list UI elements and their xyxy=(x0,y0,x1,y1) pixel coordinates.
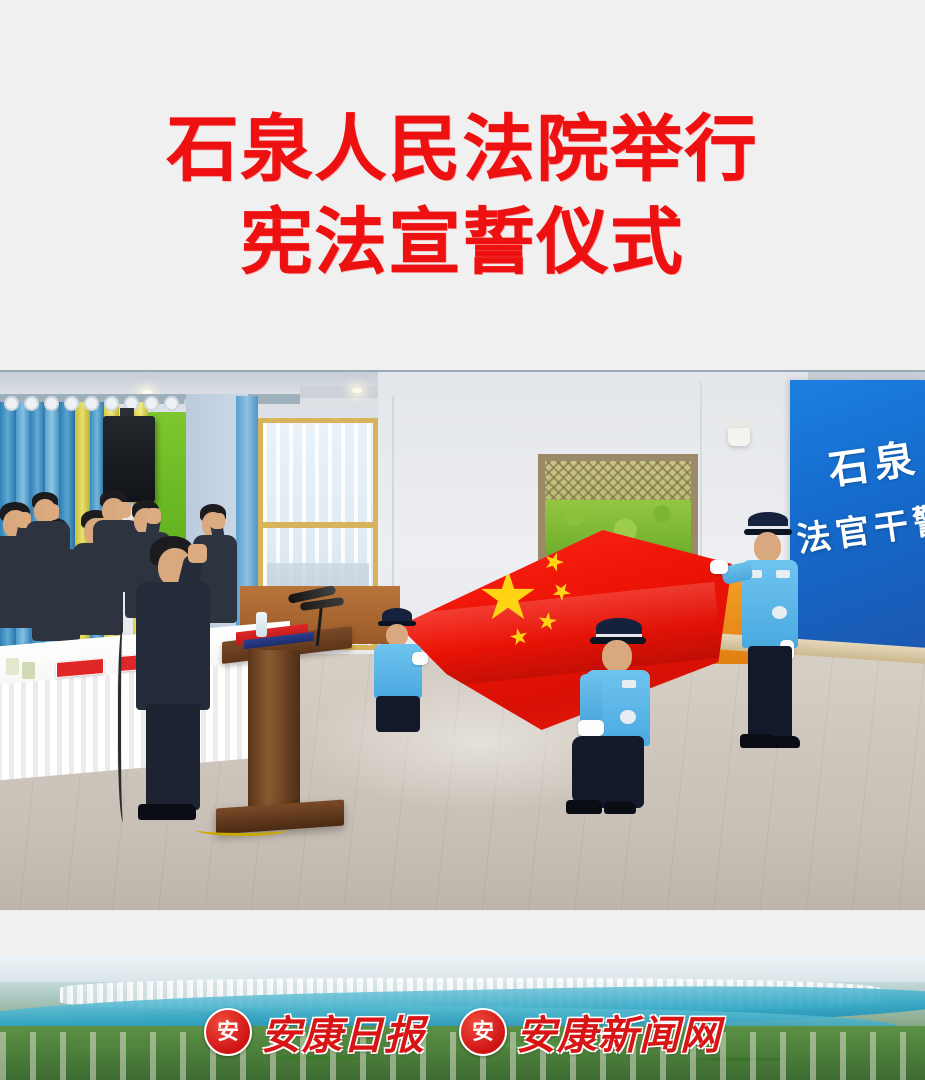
window-mullion xyxy=(258,522,378,528)
microphone-cable xyxy=(118,622,131,822)
logo-ankang-daily[interactable]: 安 安康日报 xyxy=(204,1003,425,1061)
logo-ankang-daily-text: 安康日报 xyxy=(261,1003,425,1061)
headline-line-1: 石泉人民法院举行 xyxy=(0,108,925,193)
ceremony-photo: 石泉 法官干警 xyxy=(0,370,925,912)
emblem-mark: 安 xyxy=(472,1021,494,1043)
banner-line-1: 石泉 xyxy=(824,426,923,496)
photo-footer-gap xyxy=(0,910,925,956)
water-bottle xyxy=(256,612,267,637)
ankang-daily-emblem-icon: 安 xyxy=(204,1008,252,1056)
tea-cup xyxy=(6,658,19,675)
ankang-news-emblem-icon: 安 xyxy=(459,1008,507,1056)
podium-column xyxy=(248,650,300,816)
wall-lamp-icon xyxy=(728,428,750,446)
ceiling-light-icon xyxy=(352,388,362,393)
poster-page: 石泉人民法院举行 宪法宣誓仪式 xyxy=(0,0,925,1080)
headline-line-2: 宪法宣誓仪式 xyxy=(0,201,925,286)
footer-logos: 安 安康日报 安 安康新闻网 xyxy=(0,996,925,1068)
floor-cable xyxy=(196,824,288,836)
page-title: 石泉人民法院举行 宪法宣誓仪式 xyxy=(0,108,925,286)
banner-line-2: 法官干警 xyxy=(793,491,925,561)
tea-cup xyxy=(22,662,35,679)
logo-ankang-news-text: 安康新闻网 xyxy=(516,1003,721,1061)
logo-ankang-news[interactable]: 安 安康新闻网 xyxy=(459,1003,721,1061)
emblem-mark: 安 xyxy=(217,1021,239,1043)
door-grille xyxy=(545,461,691,500)
